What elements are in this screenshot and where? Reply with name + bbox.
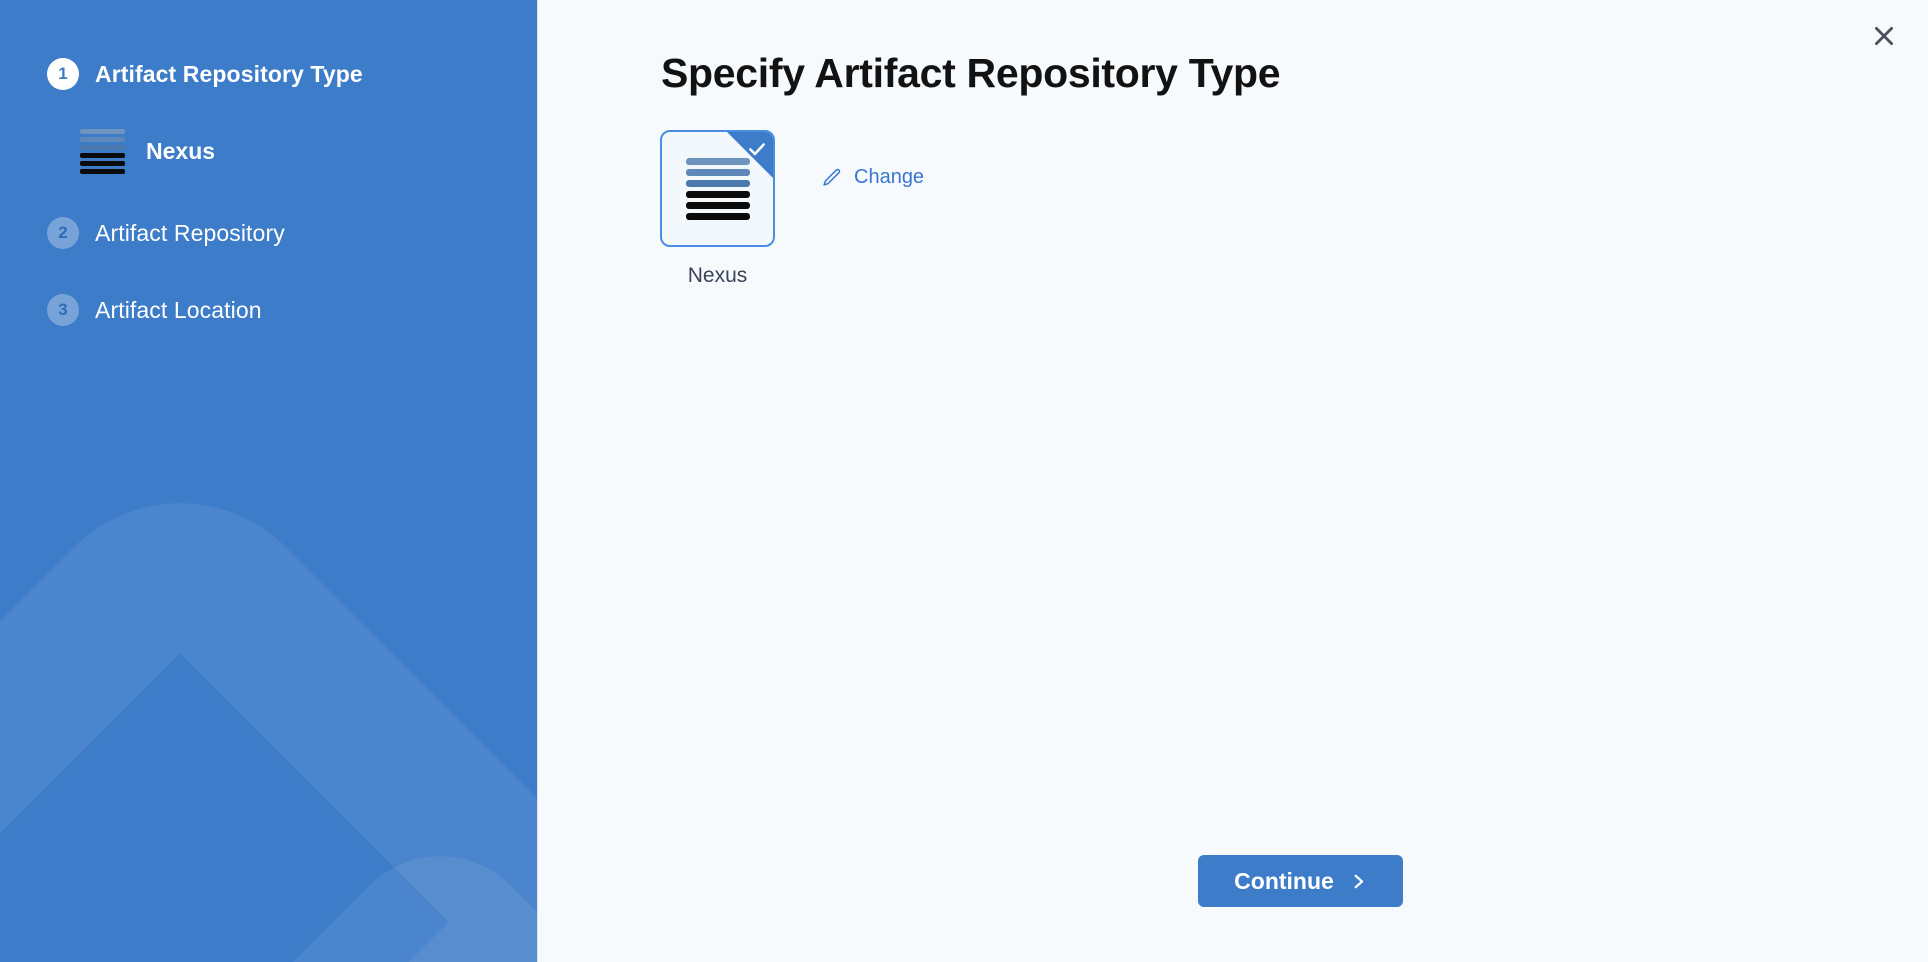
chevron-right-icon	[1350, 873, 1367, 890]
step-label-1: Artifact Repository Type	[95, 61, 363, 88]
artifact-type-card-label: Nexus	[688, 264, 748, 288]
step-label-3: Artifact Location	[95, 297, 262, 324]
wizard-main-panel: Specify Artifact Repository Type	[537, 0, 1928, 962]
sidebar-step-artifact-location[interactable]: 3 Artifact Location	[0, 288, 537, 332]
sidebar-selected-type-nexus[interactable]: Nexus	[0, 129, 537, 173]
check-icon	[747, 139, 767, 159]
wizard-step-list: 1 Artifact Repository Type Nexus 2 Artif	[0, 52, 537, 332]
sidebar-selected-type-label: Nexus	[146, 138, 215, 165]
artifact-type-option-nexus[interactable]: Nexus	[660, 130, 775, 288]
step-number-badge-1: 1	[47, 58, 79, 90]
nexus-logo-icon	[80, 129, 125, 174]
change-artifact-type-link[interactable]: Change	[821, 166, 924, 189]
step-number-badge-2: 2	[47, 217, 79, 249]
change-link-label: Change	[854, 166, 924, 189]
artifact-type-selection: Nexus Change	[660, 130, 924, 288]
pencil-icon	[821, 167, 842, 188]
decorative-shape-small	[143, 815, 537, 962]
page-title: Specify Artifact Repository Type	[661, 50, 1280, 97]
decorative-shape-large	[0, 441, 537, 962]
close-icon[interactable]	[1862, 14, 1906, 58]
artifact-repository-wizard: 1 Artifact Repository Type Nexus 2 Artif	[0, 0, 1928, 962]
sidebar-step-artifact-repository-type[interactable]: 1 Artifact Repository Type	[0, 52, 537, 96]
step-label-2: Artifact Repository	[95, 220, 285, 247]
step-number-badge-3: 3	[47, 294, 79, 326]
wizard-sidebar: 1 Artifact Repository Type Nexus 2 Artif	[0, 0, 537, 962]
artifact-type-card-nexus[interactable]	[660, 130, 775, 247]
sidebar-step-artifact-repository[interactable]: 2 Artifact Repository	[0, 211, 537, 255]
continue-button-label: Continue	[1234, 868, 1334, 895]
continue-button[interactable]: Continue	[1198, 855, 1403, 907]
